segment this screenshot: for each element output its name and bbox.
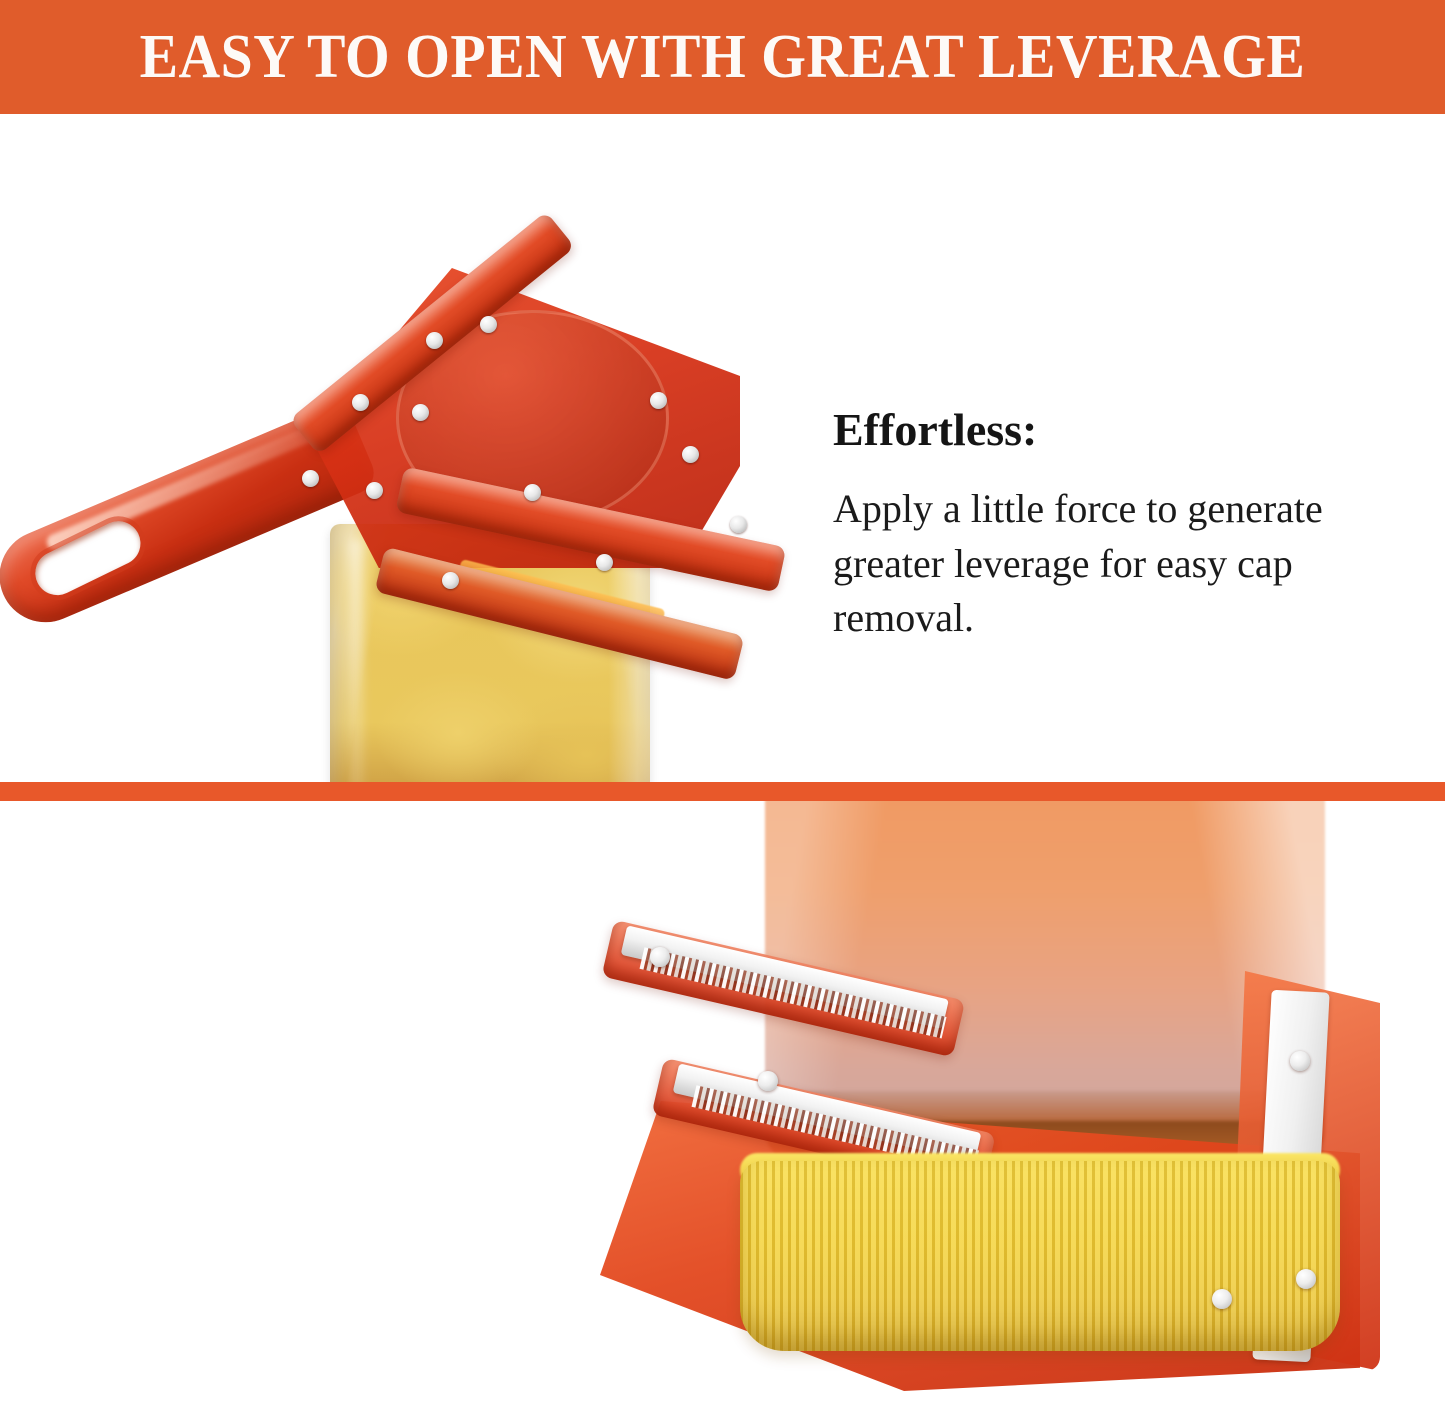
feature-body: Apply a little force to generate greater… — [833, 482, 1433, 645]
rivet — [596, 554, 613, 571]
product-photo-no-slip — [590, 801, 1445, 1411]
rivet — [730, 516, 747, 533]
rivet — [1290, 1051, 1310, 1071]
rivet — [682, 446, 699, 463]
header-banner: EASY TO OPEN WITH GREAT LEVERAGE — [0, 0, 1445, 114]
rivet — [412, 404, 429, 421]
rivet — [366, 482, 383, 499]
rivet — [650, 947, 670, 967]
rivet — [1212, 1289, 1232, 1309]
feature-heading: Effortless: — [833, 406, 1433, 454]
rivet — [1296, 1269, 1316, 1289]
feature-panel-effortless: Effortless: Apply a little force to gene… — [0, 114, 1445, 782]
page-title: EASY TO OPEN WITH GREAT LEVERAGE — [51, 0, 1395, 114]
rivet — [302, 470, 319, 487]
rivet — [650, 392, 667, 409]
rivet — [480, 316, 497, 333]
section-divider — [0, 782, 1445, 801]
rivet — [758, 1071, 778, 1091]
rivet — [352, 394, 369, 411]
rivet — [442, 572, 459, 589]
product-infographic: EASY TO OPEN WITH GREAT LEVERAGE — [0, 0, 1445, 1411]
feature-text-effortless: Effortless: Apply a little force to gene… — [833, 406, 1433, 645]
rivet — [524, 484, 541, 501]
rivet — [426, 332, 443, 349]
opener-head — [250, 254, 810, 684]
yellow-jar-cap — [740, 1161, 1340, 1351]
